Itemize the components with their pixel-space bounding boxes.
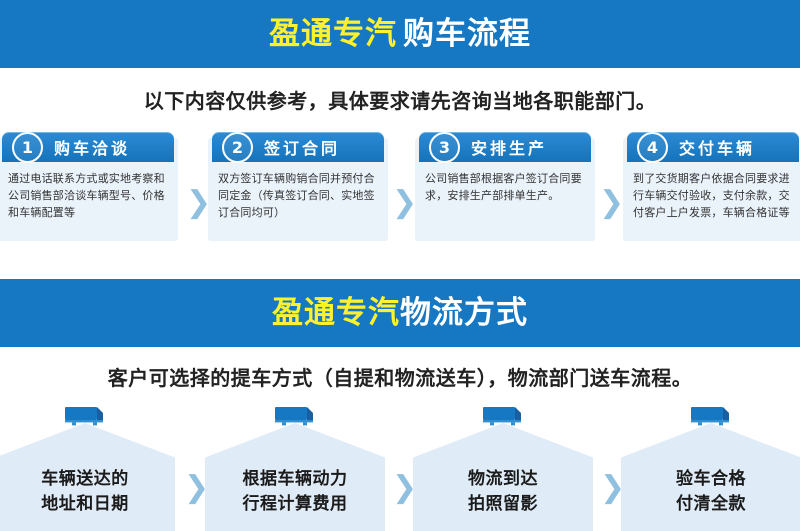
purchase-steps-row: 1 购车洽谈 通过电话联系方式或实地考察和公司销售部洽谈车辆型号、价格和车辆配置… xyxy=(0,138,800,248)
logistics-card-2: 根据车辆动力 行程计算费用 xyxy=(205,423,385,531)
truck-icon-1 xyxy=(63,405,107,429)
logistics-card-line1-3: 物流到达 xyxy=(413,467,593,492)
chevron-right-icon-step-2: ❯ xyxy=(392,188,417,218)
purchase-step-title-4: 交付车辆 xyxy=(679,135,755,159)
logistics-card-line1-2: 根据车辆动力 xyxy=(205,467,385,492)
brand-name-purchase: 盈通专汽 xyxy=(269,16,397,52)
logistics-card-text-4: 验车合格 付清全款 xyxy=(621,467,800,516)
purchase-step-header-1: 1 购车洽谈 xyxy=(2,132,174,162)
purchase-step-card-1: 1 购车洽谈 通过电话联系方式或实地考察和公司销售部洽谈车辆型号、价格和车辆配置… xyxy=(0,138,178,241)
logistics-card-3: 物流到达 拍照留影 xyxy=(413,423,593,531)
purchase-step-body-2: 双方签订车辆购销合同并预付合同定金（传真签订合同、实地签订合同均可） xyxy=(218,170,378,221)
purchase-step-card-3: 3 安排生产 公司销售部根据客户签订合同要求，安排生产部排单生产。 xyxy=(415,138,595,241)
purchase-subtitle: 以下内容仅供参考，具体要求请先咨询当地各职能部门。 xyxy=(0,85,800,114)
truck-icon-2 xyxy=(273,405,317,429)
truck-icon-4 xyxy=(689,405,733,429)
purchase-step-title-1: 购车洽谈 xyxy=(54,135,130,159)
step-number-badge-2: 2 xyxy=(222,132,253,163)
logistics-cards-row: 车辆送达的 地址和日期 ❯ 根据车辆动力 行程计算费用 ❯ 物流到达 拍照留影 xyxy=(0,405,800,531)
purchase-step-header-4: 4 交付车辆 xyxy=(627,132,799,162)
logistics-card-text-3: 物流到达 拍照留影 xyxy=(413,467,593,516)
logistics-subtitle: 客户可选择的提车方式（自提和物流送车），物流部门送车流程。 xyxy=(0,362,800,391)
purchase-step-header-2: 2 签订合同 xyxy=(212,132,384,162)
logistics-card-line2-1: 地址和日期 xyxy=(0,492,175,517)
purchase-step-card-4: 4 交付车辆 到了交货期客户依据合同要求进行车辆交付验收，支付余款，交付客户上户… xyxy=(623,138,800,241)
logistics-card-text-2: 根据车辆动力 行程计算费用 xyxy=(205,467,385,516)
purchase-step-body-3: 公司销售部根据客户签订合同要求，安排生产部排单生产。 xyxy=(425,170,585,204)
purchase-step-card-2: 2 签订合同 双方签订车辆购销合同并预付合同定金（传真签订合同、实地签订合同均可… xyxy=(208,138,388,241)
logistics-banner: 盈通专汽物流方式 xyxy=(0,279,800,347)
logistics-card-text-1: 车辆送达的 地址和日期 xyxy=(0,467,175,516)
step-number-badge-3: 3 xyxy=(429,132,460,163)
brand-name-logistics: 盈通专汽 xyxy=(272,295,400,331)
purchase-banner-title: 盈通专汽购车流程 xyxy=(269,19,531,50)
chevron-right-icon-step-3: ❯ xyxy=(599,188,624,218)
logistics-card-1: 车辆送达的 地址和日期 xyxy=(0,423,175,531)
truck-icon-3 xyxy=(481,405,525,429)
step-number-badge-4: 4 xyxy=(637,132,668,163)
logistics-card-line1-1: 车辆送达的 xyxy=(0,467,175,492)
logistics-card-4: 验车合格 付清全款 xyxy=(621,423,800,531)
purchase-step-body-1: 通过电话联系方式或实地考察和公司销售部洽谈车辆型号、价格和车辆配置等 xyxy=(8,170,168,221)
logistics-banner-title: 盈通专汽物流方式 xyxy=(272,298,528,329)
logistics-card-line1-4: 验车合格 xyxy=(621,467,800,492)
step-number-badge-1: 1 xyxy=(12,132,43,163)
purchase-step-header-3: 3 安排生产 xyxy=(419,132,591,162)
logistics-card-line2-2: 行程计算费用 xyxy=(205,492,385,517)
purchase-step-body-4: 到了交货期客户依据合同要求进行车辆交付验收，支付余款，交付客户上户发票，车辆合格… xyxy=(633,170,793,221)
purchase-step-title-3: 安排生产 xyxy=(471,135,547,159)
purchase-banner-heading: 购车流程 xyxy=(403,16,531,52)
purchase-flow-banner: 盈通专汽购车流程 xyxy=(0,0,800,68)
logistics-card-line2-4: 付清全款 xyxy=(621,492,800,517)
logistics-card-line2-3: 拍照留影 xyxy=(413,492,593,517)
logistics-banner-heading: 物流方式 xyxy=(400,295,528,331)
purchase-step-title-2: 签订合同 xyxy=(264,135,340,159)
